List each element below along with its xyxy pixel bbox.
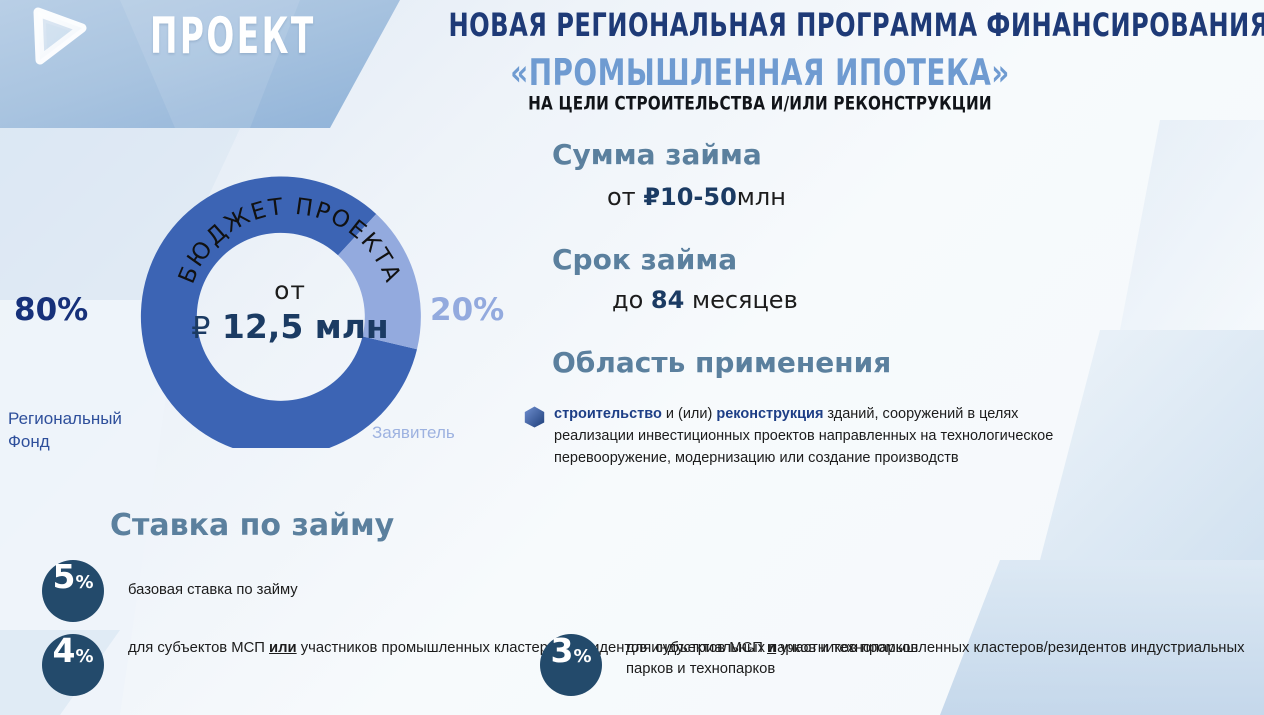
- donut-percent-regional-fund: 80%: [14, 292, 88, 328]
- loan-term-unit: месяцев: [692, 286, 798, 314]
- rate-text-before-5: базовая ставка по займу: [128, 582, 298, 598]
- rate-item-5: 5% базовая ставка по займу: [42, 560, 298, 622]
- triangle-play-logo-icon: [18, 6, 88, 68]
- loan-amount-value: от ₽10-50млн: [607, 183, 786, 211]
- rate-emphasis-3: и: [767, 640, 776, 656]
- rate-value-4: 4: [52, 634, 75, 667]
- header-subtitle: НА ЦЕЛИ СТРОИТЕЛЬСТВА И/ИЛИ РЕКОНСТРУКЦИ…: [442, 92, 1079, 114]
- hexagon-bullet-icon: [524, 406, 545, 428]
- rate-item-3: 3% для субъектов МСП и участников промыш…: [540, 634, 1264, 696]
- application-area-text2: и (или): [662, 406, 717, 422]
- infographic-slide: ПРОЕКТ НОВАЯ РЕГИОНАЛЬНАЯ ПРОГРАММА ФИНА…: [0, 0, 1264, 715]
- loan-term-value: до 84 месяцев: [612, 286, 798, 314]
- rate-value-5: 5: [52, 560, 75, 593]
- brand-label: ПРОЕКТ: [150, 8, 316, 66]
- donut-legend-applicant: Заявитель: [372, 423, 455, 443]
- donut-amount-value: 12,5 млн: [222, 307, 389, 346]
- rate-value-3: 3: [550, 634, 573, 667]
- donut-percent-applicant: 20%: [430, 292, 504, 328]
- loan-amount-heading: Сумма займа: [552, 138, 762, 171]
- loan-amount-unit: млн: [737, 183, 786, 211]
- donut-legend-regional-fund: Региональный Фонд: [8, 408, 168, 454]
- rate-text-before-4: для субъектов МСП: [128, 640, 269, 656]
- rate-percent-5: %: [75, 574, 93, 592]
- loan-amount-range: 10-50: [660, 183, 737, 211]
- rate-description-5: базовая ставка по займу: [128, 560, 298, 601]
- application-area-text: строительство и (или) реконструкция здан…: [554, 404, 1094, 469]
- ruble-sign: ₽: [191, 311, 210, 346]
- application-area-heading: Область применения: [552, 346, 891, 379]
- rate-text-before-3: для субъектов МСП: [626, 640, 767, 656]
- loan-term-heading: Срок займа: [552, 243, 737, 276]
- donut-center-text: от ₽ 12,5 млн: [140, 148, 440, 448]
- rate-badge-5: 5%: [42, 560, 104, 622]
- header-title-line1: НОВАЯ РЕГИОНАЛЬНАЯ ПРОГРАММА ФИНАНСИРОВА…: [448, 8, 1071, 45]
- application-area-bold2: реконструкция: [716, 406, 823, 422]
- loan-term-prefix: до: [612, 286, 643, 314]
- rate-badge-3: 3%: [540, 634, 602, 696]
- loan-amount-currency: ₽: [643, 183, 660, 211]
- rate-emphasis-4: или: [269, 640, 297, 656]
- donut-prefix: от: [274, 276, 306, 305]
- rate-description-3: для субъектов МСП и участников промышлен…: [626, 634, 1264, 681]
- donut-amount: ₽ 12,5 млн: [191, 307, 388, 346]
- loan-term-number: 84: [651, 286, 684, 314]
- budget-donut-chart: БЮДЖЕТ ПРОЕКТА от ₽ 12,5 млн: [140, 148, 440, 448]
- rate-badge-4: 4%: [42, 634, 104, 696]
- rates-heading: Ставка по займу: [110, 508, 394, 543]
- rate-percent-3: %: [573, 648, 591, 666]
- loan-amount-prefix: от: [607, 183, 636, 211]
- header-title-line2: «ПРОМЫШЛЕННАЯ ИПОТЕКА»: [448, 52, 1071, 95]
- application-area-bold1: строительство: [554, 406, 662, 422]
- rate-percent-4: %: [75, 648, 93, 666]
